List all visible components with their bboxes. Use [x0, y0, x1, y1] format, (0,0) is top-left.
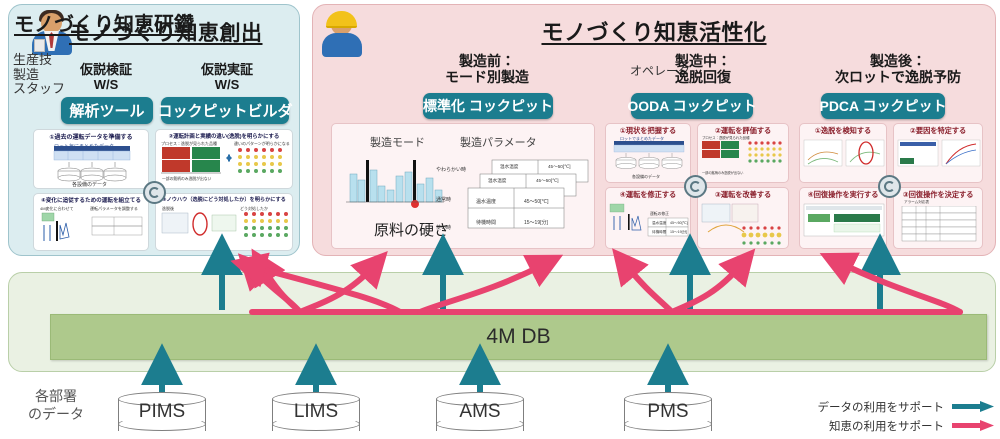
mode-label-hard: 使い時 — [436, 224, 451, 231]
ooda-q4-r1c0: 待機時間 — [652, 230, 666, 235]
create-quadrant-2: ②運転計画と実績の違い(逸脱)を明らかにする プロセス：逸脱が見られた品種 違い… — [155, 129, 293, 189]
db-cylinder-lims: LIMS — [272, 392, 360, 438]
standard-cockpit-card: 製造モード 製造パラメータ — [331, 123, 595, 249]
ooda-q2-note: 一部の銘柄のみ逸脱が出ない — [702, 170, 743, 175]
legend-arrow-teal-icon — [952, 401, 994, 412]
pill-pdca-cockpit[interactable]: PDCA コックピット — [821, 93, 945, 119]
ooda-quadrant-1: ①現状を把握する ロットでまとめたデータ 各設備のデータ — [605, 123, 691, 183]
heading-seizou-mode: 製造モード — [370, 134, 425, 150]
mode-label-soft: やわらかい時 — [436, 166, 466, 173]
ooda-q1-title: ①現状を把握する — [606, 126, 690, 136]
panel-chie-sosyutsu: モノづくり知恵創出 生産技製造スタッフ 仮説検証W/S 仮説実証W/S 解析ツー… — [8, 4, 300, 256]
legend-arrow-pink-icon — [952, 420, 994, 431]
ooda-quadrant-2: ②運転を評価する プロセス：逸脱が見られた品種 一部の銘柄のみ逸脱が出ない — [697, 123, 789, 183]
ws-label-kasetsu-jissyo: 仮説実証W/S — [167, 63, 287, 93]
db-cylinder-pms: PMS — [624, 392, 712, 438]
pdca-quadrant-2: ②要因を特定する — [893, 123, 983, 183]
pdca-q1-title: ①逸脱を検知する — [800, 126, 886, 136]
db-cylinder-pims-label: PIMS — [118, 401, 206, 423]
create-q1-sub2: 各設備のデータ — [72, 181, 107, 188]
legend: データの利用をサポート 知恵の利用をサポート — [818, 397, 995, 435]
role-label-staff: 生産技製造スタッフ — [13, 53, 67, 97]
db-cylinder-pms-label: PMS — [624, 401, 712, 423]
create-quadrant-4: ④変化に追従するための運転を組立てる 4M変化に合わせて 運転パラメータを調整す… — [33, 193, 149, 251]
pdca-quadrant-4: ④回復操作を実行する — [799, 187, 887, 249]
mode-label-normal: 通常時 — [436, 196, 451, 203]
db-cylinder-ams: AMS — [436, 392, 524, 438]
pdca-quadrant-3: ③回復操作を決定する アラーム対応表 — [893, 187, 983, 249]
create-quadrant-2-title: ②運転計画と実績の違い(逸脱)を明らかにする — [156, 132, 292, 140]
ooda-q4-sub1: 運転の修正 — [650, 212, 669, 217]
pill-ooda-cockpit[interactable]: OODA コックピット — [631, 93, 753, 119]
create-cycle-icon — [143, 181, 166, 204]
param-r0-c0: 温水温度 — [500, 164, 518, 170]
ooda-q4-title: ④運転を修正する — [606, 190, 690, 200]
ooda-quadrant-4: ④運転を修正する 運転の修正 温水温度 45～50[℃] 待機時間 15～19[… — [605, 187, 691, 249]
create-q2-note: 一部の銘柄のみ逸脱が出ない — [162, 177, 211, 182]
ooda-q4-r0c1: 45～50[℃] — [670, 221, 688, 226]
diagram-canvas: モノづくり知恵創出 生産技製造スタッフ 仮説検証W/S 仮説実証W/S 解析ツー… — [0, 0, 1000, 439]
dept-data-label: 各部署のデータ — [8, 388, 104, 423]
pdca-q2-title: ②要因を特定する — [894, 126, 982, 136]
pdca-quadrant-1: ①逸脱を検知する — [799, 123, 887, 183]
legend-label-data: データの利用をサポート — [818, 399, 945, 415]
param-r2-c0: 温水温度 — [476, 198, 496, 205]
param-r1-c0: 温水温度 — [488, 178, 506, 184]
panel-title-activate: モノづくり知恵活性化 — [313, 15, 995, 47]
create-quadrant-1: ①過去の運転データを準備する ロット毎にまとめたデータ 各設備のデータ — [33, 129, 149, 189]
ooda-q4-r1c1: 15～19[分] — [670, 230, 687, 235]
db-cylinder-ams-label: AMS — [436, 401, 524, 423]
param-r1-c1: 45～50[℃] — [536, 178, 559, 184]
legend-row-data: データの利用をサポート — [818, 397, 995, 416]
db-cylinder-pims: PIMS — [118, 392, 206, 438]
create-quadrant-3: ③ノウハウ（逸脱にどう対処したか）を明らかにする 逸脱後 どう対処したか — [155, 193, 293, 251]
create-quadrant-1-title: ①過去の運転データを準備する — [34, 132, 148, 141]
legend-row-knowledge: 知恵の利用をサポート — [818, 416, 995, 435]
ooda-cycle-icon — [684, 175, 707, 198]
panel-title-train: モノづくり知恵研鑽 — [14, 8, 194, 37]
param-r3-c0: 待機時間 — [476, 219, 496, 226]
pdca-q3-sub1: アラーム対応表 — [904, 200, 929, 205]
panel-chie-kasseika: モノづくり知恵活性化 オペレータ 製造前：モード別製造 製造中：逸脱回復 製造後… — [312, 4, 996, 256]
legend-label-knowledge: 知恵の利用をサポート — [829, 418, 944, 434]
pill-standardization-cockpit[interactable]: 標準化 コックピット — [423, 93, 553, 119]
pdca-q4-title: ④回復操作を実行する — [800, 190, 886, 200]
pill-kaiseki-tool[interactable]: 解析ツール — [61, 97, 153, 124]
ooda-q1-sub2: 各設備のデータ — [632, 174, 660, 180]
create-quadrant-4-title: ④変化に追従するための運転を組立てる — [34, 196, 148, 204]
ooda-q3-title: ③運転を改善する — [698, 190, 788, 200]
phase-label-before: 製造前：モード別製造 — [417, 53, 557, 85]
create-quadrant-3-title: ③ノウハウ（逸脱にどう対処したか）を明らかにする — [156, 196, 292, 203]
pdca-cycle-icon — [878, 175, 901, 198]
param-r3-c1: 15～19[分] — [524, 219, 548, 226]
phase-label-after: 製造後：次ロットで逸脱予防 — [813, 53, 983, 85]
param-r0-c1: 45～50[℃] — [548, 164, 571, 170]
pill-cockpit-builder[interactable]: コックピットビルダ — [161, 97, 289, 124]
ooda-q4-r0c0: 温水温度 — [652, 221, 666, 226]
ws-label-kasetsu-kensyo: 仮説検証W/S — [63, 63, 149, 93]
phase-label-during: 製造中：逸脱回復 — [633, 53, 773, 85]
param-r2-c1: 45～50[℃] — [524, 198, 549, 205]
heading-seizou-param: 製造パラメータ — [460, 134, 537, 150]
ooda-quadrant-3: ③運転を改善する — [697, 187, 789, 249]
pdca-q3-title: ③回復操作を決定する — [894, 190, 982, 200]
db-cylinder-lims-label: LIMS — [272, 401, 360, 423]
database-bar-4mdb: 4M DB — [50, 314, 987, 360]
